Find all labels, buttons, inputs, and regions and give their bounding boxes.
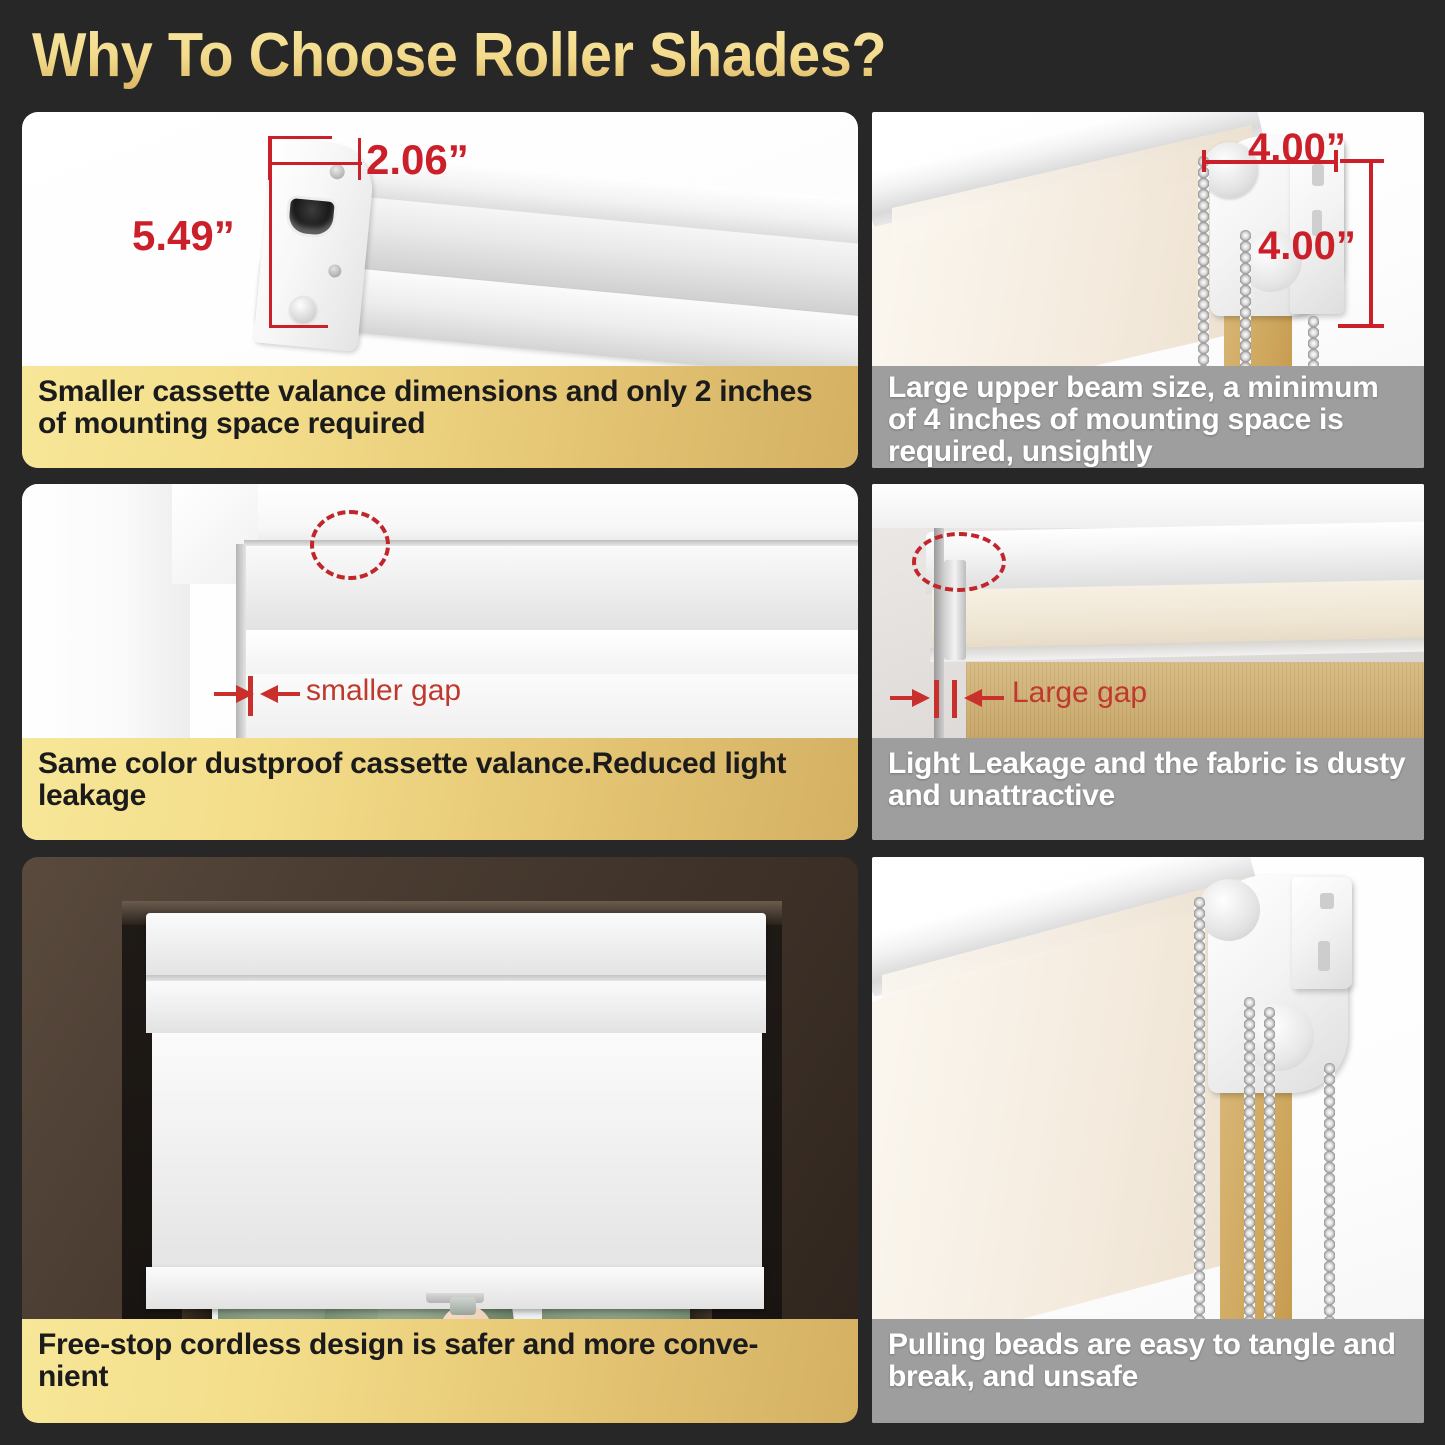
gap-arrow-right-stem bbox=[982, 696, 1004, 700]
hand-grip-point bbox=[450, 1297, 476, 1315]
caption-con-pulling-beads: Pulling beads are easy to tangle and bre… bbox=[872, 1319, 1424, 1423]
valance-screw-mid bbox=[328, 264, 342, 278]
bead-chain-middle-2 bbox=[1264, 1007, 1275, 1325]
caption-pro-cassette-dimensions: Smaller cassette valance dimensions and … bbox=[22, 366, 858, 468]
beam-height-tick-top bbox=[1340, 159, 1384, 163]
height-dim-extension-top bbox=[270, 136, 332, 139]
bracket-slot-lower bbox=[1318, 941, 1330, 971]
ceiling-band bbox=[872, 484, 1424, 528]
panel-pro-cordless-design: Free-stop cordless design is safer and m… bbox=[22, 857, 858, 1423]
beam-width-label: 4.00” bbox=[1248, 126, 1346, 171]
panel-con-upper-beam-size: 4.00” 4.00” Large upper beam size, a min… bbox=[872, 112, 1424, 468]
bead-chain-middle bbox=[1244, 997, 1255, 1325]
gap-highlight-circle bbox=[912, 532, 1006, 592]
caption-pro-cordless-design: Free-stop cordless design is safer and m… bbox=[22, 1319, 858, 1423]
gap-callout-label: Large gap bbox=[1012, 676, 1147, 710]
height-dim-arrow-line bbox=[269, 138, 272, 328]
gap-callout-label: smaller gap bbox=[306, 674, 461, 708]
gap-arrow-left-stem bbox=[214, 692, 238, 696]
valance-screw-lower bbox=[287, 294, 320, 327]
beam-height-label: 4.00” bbox=[1258, 224, 1356, 269]
beam-width-tick-left bbox=[1202, 150, 1206, 172]
infographic-page: Why To Choose Roller Shades? 2.06” bbox=[0, 0, 1445, 1445]
bead-chain-right bbox=[1324, 1063, 1335, 1325]
caption-pro-dustproof-valance: Same color dustproof cassette valance.Re… bbox=[22, 738, 858, 840]
gap-highlight-circle bbox=[310, 510, 390, 580]
gap-arrow-left-stem bbox=[890, 696, 914, 700]
gap-arrow-right-head bbox=[964, 689, 982, 707]
gap-tick-right bbox=[952, 680, 957, 718]
height-dim-extension-bottom bbox=[270, 325, 328, 328]
caption-con-light-leakage: Light Leakage and the fabric is dusty an… bbox=[872, 738, 1424, 840]
width-dim-label: 2.06” bbox=[366, 136, 469, 184]
roller-shade-headrail bbox=[146, 913, 766, 979]
valance-slot bbox=[288, 198, 335, 236]
window-frame-top bbox=[172, 484, 858, 546]
gap-tick-mark bbox=[248, 676, 253, 716]
roller-shade-fabric bbox=[152, 1033, 762, 1293]
width-dim-extension-right bbox=[358, 138, 361, 180]
bracket-roller-wheel bbox=[1198, 879, 1260, 941]
valance-screw-upper bbox=[329, 164, 345, 180]
height-dim-label: 5.49” bbox=[132, 212, 235, 260]
roller-shade-valance bbox=[146, 981, 766, 1033]
beam-height-arrow-line bbox=[1369, 160, 1373, 328]
bracket-slot-upper bbox=[1320, 893, 1334, 909]
page-title: Why To Choose Roller Shades? bbox=[32, 20, 1148, 92]
panel-con-pulling-beads: Pulling beads are easy to tangle and bre… bbox=[872, 857, 1424, 1423]
shade-fabric-panel bbox=[244, 630, 858, 676]
gap-arrow-left-head bbox=[912, 689, 930, 707]
gap-arrow-right-stem bbox=[278, 692, 300, 696]
bead-chain-left bbox=[1194, 897, 1205, 1325]
gap-tick-left bbox=[934, 680, 939, 718]
beam-height-tick-bottom bbox=[1338, 324, 1384, 328]
panel-pro-dustproof-valance: smaller gap Same color dustproof cassett… bbox=[22, 484, 858, 840]
caption-con-upper-beam-size: Large upper beam size, a minimum of 4 in… bbox=[872, 366, 1424, 468]
width-dim-arrow-line bbox=[270, 162, 362, 165]
panel-pro-cassette-dimensions: 2.06” 5.49” Smaller cassette valance dim… bbox=[22, 112, 858, 468]
panel-con-light-leakage: Large gap Light Leakage and the fabric i… bbox=[872, 484, 1424, 840]
gap-arrow-right-head bbox=[260, 685, 278, 703]
